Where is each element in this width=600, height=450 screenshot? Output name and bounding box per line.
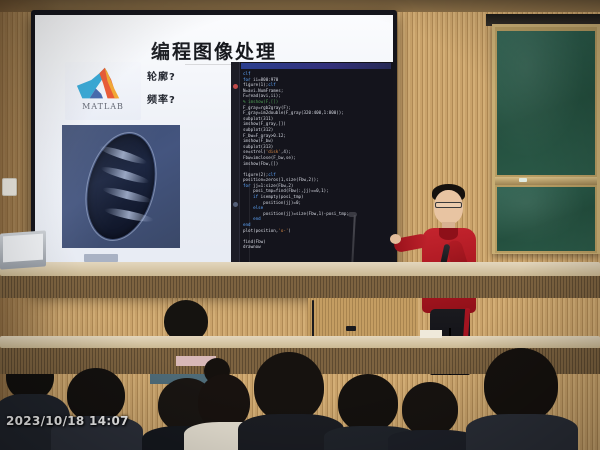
chalkboard-panel-upper [495,29,597,177]
code-selected-line [241,63,391,69]
code-gutter [231,62,240,279]
matlab-wordmark: MATLAB [65,102,141,111]
presenter-collar [439,228,458,240]
question-label-contour: 轮廓? [147,68,176,83]
breakpoint-icon[interactable] [233,202,238,207]
desk-phone [346,326,356,331]
matlab-logo [76,66,130,102]
audience-member [55,368,139,450]
audience-shoulders [388,430,478,450]
laptop-screen [3,234,43,263]
audience-laptop [0,230,46,269]
wall-socket [2,178,17,196]
specimen-microscopy-image [62,125,180,248]
chalkboard-panel-lower [495,185,597,253]
question-label-frequency: 频率? [147,91,176,106]
audience-head [402,382,458,436]
audience-head [484,348,558,422]
presentation-screen: 编程图像处理 MATLAB 轮廓? 频率? [31,10,397,291]
audience-shoulders [466,414,578,450]
chalk-tray [495,177,597,185]
audience-member [394,382,470,450]
chalk-piece [519,178,527,182]
slide-title: 编程图像处理 [35,37,393,64]
audience-head [254,352,324,422]
desk-back-panel [0,276,600,298]
glasses-icon [435,202,462,208]
photo-timestamp: 2023/10/18 14:07 [6,414,129,428]
desk-front-row [0,336,600,348]
code-editor-panel: clffor ii=800:970figure(1);clfN=avi.NumF… [231,62,393,279]
desk-back-row [0,262,600,276]
desk-notebook [84,254,118,262]
breakpoint-icon[interactable] [233,84,238,89]
code-lines: clffor ii=800:970figure(1);clfN=avi.NumF… [243,71,393,250]
desk-paper [420,330,442,338]
specimen-outline [75,125,168,248]
audience-head [338,374,398,432]
slide-surface: 编程图像处理 MATLAB 轮廓? 频率? [35,15,393,279]
presenter-left-hand [390,234,401,244]
green-chalkboard [492,24,600,254]
audience-member [470,348,570,450]
code-line: drawnow [243,244,393,250]
matlab-logo-card: MATLAB [65,62,141,120]
lecture-photo: 编程图像处理 MATLAB 轮廓? 频率? [0,0,600,450]
